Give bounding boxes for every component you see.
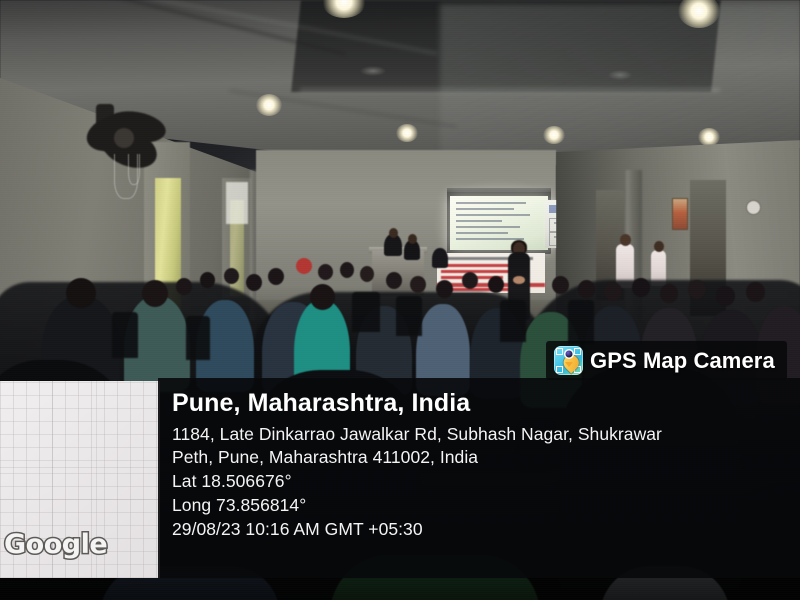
map-thumbnail[interactable]: Google — [0, 381, 160, 578]
audience-head — [632, 278, 650, 297]
wall-fan — [78, 100, 182, 208]
wall-clock — [746, 200, 761, 215]
audience-head — [200, 272, 215, 288]
chair — [186, 316, 210, 360]
ceiling-light-8 — [698, 128, 720, 146]
latitude-value: Lat 18.506676° — [172, 470, 800, 494]
ceiling-panel-right — [440, 4, 800, 164]
gps-map-camera-brand: GPS Map Camera — [546, 341, 787, 380]
fan-pull-cord-2 — [128, 154, 140, 185]
audience-head — [552, 276, 569, 294]
audience-head — [296, 258, 312, 274]
gps-map-camera-logo-icon — [554, 346, 583, 375]
longitude-value: Long 73.856814° — [172, 494, 800, 518]
location-info-panel: Pune, Maharashtra, India 1184, Late Dink… — [158, 378, 800, 578]
audience-head — [410, 276, 426, 293]
ceiling-vent-1 — [360, 66, 386, 76]
audience-head — [360, 266, 374, 282]
audience-head — [268, 268, 284, 285]
chair — [568, 300, 594, 344]
ceiling-light-6 — [543, 126, 565, 144]
audience-head — [688, 280, 706, 299]
chair — [112, 312, 138, 358]
audience-head — [386, 272, 402, 289]
framed-portrait — [672, 198, 688, 230]
ceiling-beam-1 — [300, 88, 720, 92]
audience-head — [716, 286, 735, 306]
audience-head — [318, 264, 333, 280]
audience-head — [176, 278, 192, 295]
projector-screen — [450, 196, 548, 250]
google-watermark: Google — [4, 529, 107, 560]
standing-person-2-head — [654, 241, 664, 252]
audience-head — [436, 280, 453, 298]
audience-head — [224, 268, 239, 284]
ceiling-light-4 — [396, 124, 418, 142]
chair — [396, 296, 422, 336]
podium-person-3 — [432, 248, 448, 268]
address-line-1: 1184, Late Dinkarrao Jawalkar Rd, Subhas… — [172, 423, 800, 447]
podium-person-2-head — [408, 234, 417, 244]
screenshot-root: GPS Map Camera Google Pune, Maharashtra,… — [0, 0, 800, 600]
capture-timestamp: 29/08/23 10:16 AM GMT +05:30 — [172, 518, 800, 542]
audience-head — [578, 280, 595, 298]
presenter-hands — [513, 276, 525, 284]
address-line-2: Peth, Pune, Maharashtra 411002, India — [172, 446, 800, 470]
standing-person-1-head — [620, 234, 631, 246]
brand-name-label: GPS Map Camera — [590, 348, 775, 374]
fan-hub — [114, 128, 134, 148]
chair — [500, 300, 526, 342]
audience-head — [340, 262, 354, 278]
chair — [352, 292, 380, 332]
podium-person-1-head — [389, 228, 398, 238]
audience-head — [462, 272, 478, 289]
wall-notice-paper — [226, 182, 248, 224]
audience-head — [488, 276, 504, 293]
map-streak — [0, 499, 158, 500]
audience-head — [746, 282, 765, 302]
audience-head — [246, 274, 262, 291]
audience-head — [142, 280, 168, 307]
ceiling-light-3 — [256, 94, 282, 116]
ceiling-vent-2 — [608, 70, 632, 80]
audience-head — [604, 282, 622, 301]
audience-head — [660, 284, 678, 303]
map-streak — [0, 467, 158, 468]
audience-head — [310, 284, 335, 310]
audience-head — [66, 278, 96, 308]
location-title: Pune, Maharashtra, India — [172, 390, 800, 418]
